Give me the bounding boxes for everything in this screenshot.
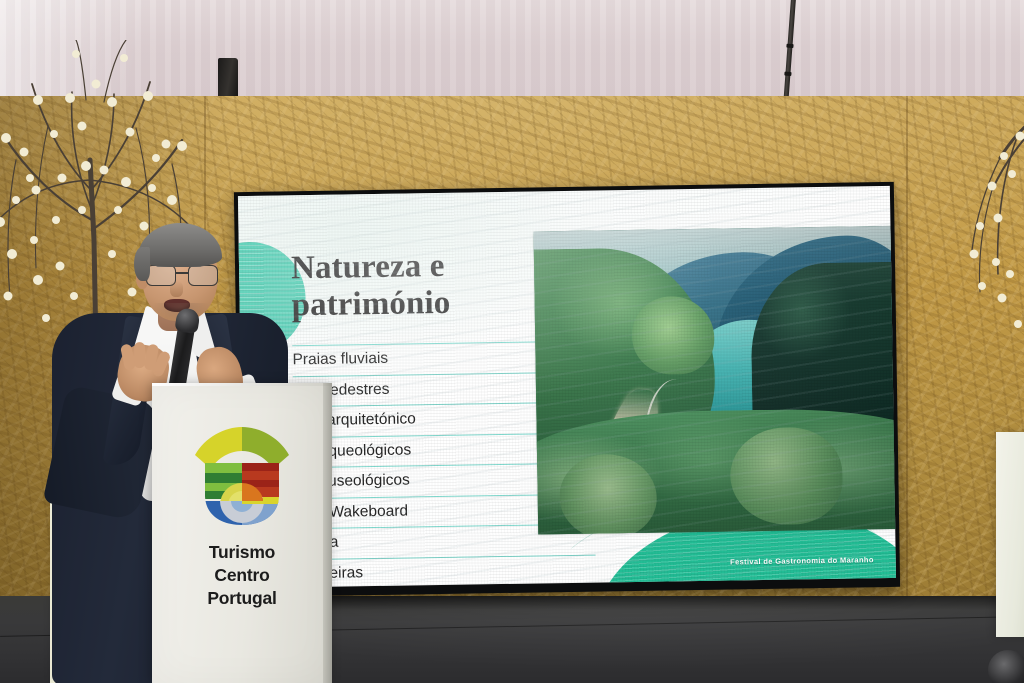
turismo-centro-portugal-logo-icon: [189, 421, 295, 531]
right-pedestal: [996, 432, 1024, 637]
slide-photo-river-gorge: [534, 226, 896, 535]
list-item: albufeiras: [296, 554, 572, 588]
podium-line-3: Portugal: [207, 587, 276, 610]
led-screen: Natureza e património Praias fluviais so…: [234, 182, 900, 597]
podium: Turismo Centro Portugal: [152, 383, 332, 683]
list-item: os museológicos: [294, 463, 570, 498]
presentation-slide: Natureza e património Praias fluviais so…: [238, 186, 896, 588]
podium-line-2: Centro: [207, 564, 276, 587]
list-item: os arqueológicos: [294, 432, 570, 467]
slide-title-line2: património: [291, 285, 450, 323]
slide-title: Natureza e património: [291, 248, 451, 324]
podium-brand-text: Turismo Centro Portugal: [207, 541, 276, 609]
screen-bezel: Natureza e património Praias fluviais so…: [234, 182, 900, 597]
list-item: Praias fluviais: [292, 341, 568, 376]
slide-bullet-list: Praias fluviais sos pedestres ónio arqui…: [292, 341, 572, 588]
list-item: sos pedestres: [293, 371, 569, 406]
list-item: e flora: [295, 524, 571, 559]
list-item: ónio arquitetónico: [293, 402, 569, 437]
right-blossom-branch: [946, 94, 1024, 394]
podium-line-1: Turismo: [207, 541, 276, 564]
list-item: o de Wakeboard: [295, 493, 571, 528]
slide-title-line1: Natureza e: [291, 248, 445, 286]
presentation-scene: Natureza e património Praias fluviais so…: [0, 0, 1024, 683]
equipment-wheel: [988, 650, 1024, 683]
wall-speaker: [218, 58, 238, 100]
